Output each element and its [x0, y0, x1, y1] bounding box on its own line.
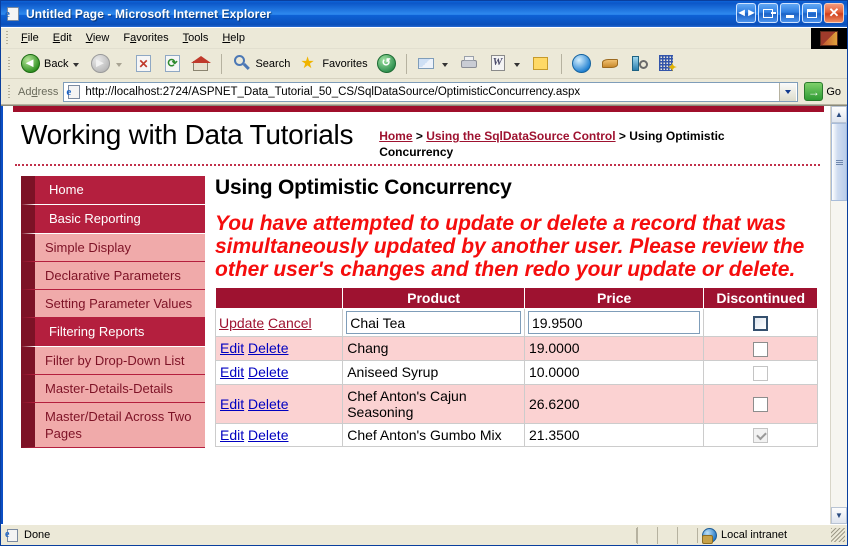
- address-input[interactable]: e http://localhost:2724/ASPNET_Data_Tuto…: [63, 82, 798, 102]
- history-icon: ↺: [376, 53, 397, 74]
- favorites-label: Favorites: [322, 58, 367, 70]
- status-cell-2: [657, 527, 677, 544]
- discontinued-checkbox: [753, 366, 768, 381]
- mail-dropdown-icon[interactable]: [442, 63, 448, 67]
- row-product-cell: [343, 309, 525, 337]
- main-content: Using Optimistic Concurrency You have at…: [205, 176, 830, 448]
- address-url-text: http://localhost:2724/ASPNET_Data_Tutori…: [85, 86, 779, 98]
- row-price-cell: 21.3500: [524, 423, 703, 447]
- row-product-cell: Chef Anton's Cajun Seasoning: [343, 384, 525, 423]
- row-commands-cell: Edit Delete: [216, 384, 343, 423]
- favorites-star-icon: ★: [298, 53, 319, 74]
- minimize-button[interactable]: [780, 3, 800, 23]
- page-header: Working with Data Tutorials Home > Using…: [3, 112, 830, 160]
- page-title: Using Optimistic Concurrency: [215, 176, 818, 200]
- close-icon: ✕: [829, 6, 840, 19]
- home-button[interactable]: [187, 51, 216, 76]
- status-cell-1: [637, 527, 657, 544]
- window-controls: ◄► ✕: [736, 3, 844, 23]
- address-label: Address: [16, 86, 63, 98]
- delete-link[interactable]: Delete: [248, 396, 288, 412]
- messenger-icon: [571, 53, 592, 74]
- edit-word-icon: W: [488, 53, 509, 74]
- breadcrumb-link-section[interactable]: Using the SqlDataSource Control: [426, 129, 615, 143]
- ie-page-icon: e: [5, 6, 21, 22]
- minimize-icon: [786, 15, 794, 18]
- research-icon: [600, 53, 621, 74]
- menu-bar: File Edit View Favorites Tools Help: [1, 27, 847, 49]
- status-bar: e Done Local intranet: [1, 524, 847, 545]
- row-discontinued-cell: [704, 360, 818, 384]
- row-discontinued-cell: [704, 423, 818, 447]
- row-discontinued-cell: [704, 337, 818, 361]
- favorites-button[interactable]: ★ Favorites: [294, 51, 371, 76]
- table-row: Edit Delete Chang 19.0000: [216, 337, 818, 361]
- row-product-cell: Aniseed Syrup: [343, 360, 525, 384]
- breadcrumb-link-home[interactable]: Home: [379, 129, 412, 143]
- mail-button[interactable]: [412, 51, 455, 76]
- sidebar-item-filter-by-drop-down-list[interactable]: Filter by Drop-Down List: [21, 347, 205, 375]
- maximize-button[interactable]: [802, 3, 822, 23]
- maximize-icon: [807, 9, 817, 18]
- update-link[interactable]: Update: [219, 315, 264, 331]
- forward-dropdown-icon: [116, 63, 122, 67]
- discontinued-checkbox: [753, 428, 768, 443]
- window-title: Untitled Page - Microsoft Internet Explo…: [26, 7, 271, 21]
- media-icon: [629, 53, 650, 74]
- notes-icon: [531, 53, 552, 74]
- local-intranet-icon: [702, 528, 717, 543]
- row-product-cell: Chang: [343, 337, 525, 361]
- row-commands-cell: Edit Delete: [216, 423, 343, 447]
- print-button[interactable]: [455, 51, 484, 76]
- column-header-discontinued: Discontinued: [704, 288, 818, 309]
- page-viewport: Working with Data Tutorials Home > Using…: [1, 105, 847, 524]
- edit-link[interactable]: Edit: [220, 427, 244, 443]
- breadcrumb: Home > Using the SqlDataSource Control >…: [379, 128, 749, 160]
- resize-grip[interactable]: [831, 528, 845, 542]
- row-price-cell: 19.0000: [524, 337, 703, 361]
- stop-button[interactable]: ✕: [129, 51, 158, 76]
- scrollbar-thumb[interactable]: [831, 123, 847, 201]
- menu-gripper[interactable]: [4, 30, 12, 46]
- go-label: Go: [826, 86, 841, 98]
- discontinued-checkbox[interactable]: [753, 316, 768, 331]
- sidebar-item-filtering-reports[interactable]: Filtering Reports: [21, 318, 205, 347]
- ie-brand-logo: [811, 28, 847, 49]
- title-bar: e Untitled Page - Microsoft Internet Exp…: [1, 1, 847, 27]
- browser-toolbar: ◄ Back ► ✕ ⟳: [1, 49, 847, 79]
- delete-link[interactable]: Delete: [248, 364, 288, 380]
- page-body: Home Basic Reporting Simple Display Decl…: [3, 166, 830, 448]
- status-text: Done: [24, 529, 50, 541]
- sidebar-item-master-details-details[interactable]: Master-Details-Details: [21, 375, 205, 403]
- page-scrollbar[interactable]: ▲ ▼: [830, 106, 847, 524]
- table-row: Edit Delete Chef Anton's Cajun Seasoning…: [216, 384, 818, 423]
- media-button[interactable]: [625, 51, 654, 76]
- restore-group-button[interactable]: ◄►: [736, 3, 756, 23]
- row-product-cell: Chef Anton's Gumbo Mix: [343, 423, 525, 447]
- go-button[interactable]: → Go: [798, 82, 845, 101]
- row-price-cell: [524, 309, 703, 337]
- history-button[interactable]: ↺: [372, 51, 401, 76]
- research-button[interactable]: [596, 51, 625, 76]
- sidebar-item-home[interactable]: Home: [21, 176, 205, 205]
- column-header-commands: [216, 288, 343, 309]
- messenger-button[interactable]: [567, 51, 596, 76]
- menu-item-tools[interactable]: Tools: [176, 30, 216, 46]
- table-header-row: Product Price Discontinued: [216, 288, 818, 309]
- edit-link[interactable]: Edit: [220, 340, 244, 356]
- forward-arrow-icon: ►: [90, 53, 111, 74]
- discontinued-checkbox: [753, 397, 768, 412]
- table-row: Edit Delete Aniseed Syrup 10.0000: [216, 360, 818, 384]
- site-title: Working with Data Tutorials: [21, 118, 353, 152]
- security-zone[interactable]: Local intranet: [697, 528, 847, 543]
- table-row: Edit Delete Chef Anton's Gumbo Mix 21.35…: [216, 423, 818, 447]
- search-button[interactable]: Search: [227, 51, 294, 76]
- discontinued-checkbox: [753, 342, 768, 357]
- edit-dropdown-icon[interactable]: [514, 63, 520, 67]
- restore-window-button[interactable]: [758, 3, 778, 23]
- row-discontinued-cell: [704, 384, 818, 423]
- sidebar-item-declarative-parameters[interactable]: Declarative Parameters: [21, 262, 205, 290]
- close-button[interactable]: ✕: [824, 3, 844, 23]
- toolbox-icon: ✦: [658, 53, 679, 74]
- cancel-link[interactable]: Cancel: [268, 315, 312, 331]
- table-row: Update Cancel: [216, 309, 818, 337]
- back-label: Back: [44, 58, 68, 70]
- menu-item-favorites[interactable]: Favorites: [116, 30, 175, 46]
- search-label: Search: [255, 58, 290, 70]
- status-message: e Done: [3, 528, 637, 543]
- delete-link[interactable]: Delete: [248, 427, 288, 443]
- menu-item-edit[interactable]: Edit: [46, 30, 79, 46]
- page-favicon-icon: e: [66, 84, 82, 100]
- forward-button: ►: [86, 51, 129, 76]
- refresh-button[interactable]: ⟳: [158, 51, 187, 76]
- address-dropdown-button[interactable]: [779, 83, 796, 101]
- back-dropdown-icon[interactable]: [73, 63, 79, 67]
- price-input[interactable]: [528, 311, 700, 334]
- status-page-icon: e: [5, 528, 20, 543]
- browser-window: e Untitled Page - Microsoft Internet Exp…: [0, 0, 848, 546]
- notes-button[interactable]: [527, 51, 556, 76]
- back-button[interactable]: ◄ Back: [16, 51, 86, 76]
- row-price-cell: 10.0000: [524, 360, 703, 384]
- row-commands-cell: Update Cancel: [216, 309, 343, 337]
- address-bar: Address e http://localhost:2724/ASPNET_D…: [1, 79, 847, 105]
- back-arrow-icon: ◄: [20, 53, 41, 74]
- row-commands-cell: Edit Delete: [216, 360, 343, 384]
- edit-word-button[interactable]: W: [484, 51, 527, 76]
- menu-item-file[interactable]: File: [14, 30, 46, 46]
- sidebar-item-basic-reporting[interactable]: Basic Reporting: [21, 205, 205, 234]
- products-grid: Product Price Discontinued Update Cancel: [215, 287, 818, 447]
- left-right-arrow-icon: ◄►: [736, 8, 756, 19]
- sidebar-item-master-detail-across-two-pages[interactable]: Master/Detail Across Two Pages: [21, 403, 205, 448]
- breadcrumb-sep-2: >: [616, 129, 630, 143]
- go-arrow-icon: →: [804, 82, 823, 101]
- stop-icon: ✕: [133, 53, 154, 74]
- search-icon: [231, 53, 252, 74]
- toolbar-gripper[interactable]: [6, 56, 14, 72]
- column-header-product: Product: [343, 288, 525, 309]
- menu-item-help[interactable]: Help: [215, 30, 252, 46]
- sidebar-item-setting-parameter-values[interactable]: Setting Parameter Values: [21, 290, 205, 318]
- breadcrumb-sep-1: >: [413, 129, 427, 143]
- zone-text: Local intranet: [721, 529, 787, 541]
- edit-link[interactable]: Edit: [220, 396, 244, 412]
- scrollbar-track[interactable]: [831, 123, 847, 507]
- print-icon: [459, 53, 480, 74]
- row-discontinued-cell: [704, 309, 818, 337]
- delete-link[interactable]: Delete: [248, 340, 288, 356]
- product-name-input[interactable]: [346, 311, 521, 334]
- column-header-price: Price: [524, 288, 703, 309]
- concurrency-warning-message: You have attempted to update or delete a…: [215, 212, 818, 281]
- web-page: Working with Data Tutorials Home > Using…: [1, 106, 830, 524]
- address-gripper[interactable]: [6, 84, 14, 100]
- edit-link[interactable]: Edit: [220, 364, 244, 380]
- restore-icon: [763, 9, 773, 18]
- scroll-up-button[interactable]: ▲: [831, 106, 847, 123]
- sidebar-nav: Home Basic Reporting Simple Display Decl…: [3, 176, 205, 448]
- row-commands-cell: Edit Delete: [216, 337, 343, 361]
- scroll-down-button[interactable]: ▼: [831, 507, 847, 524]
- status-cell-3: [677, 527, 697, 544]
- mail-icon: [416, 53, 437, 74]
- home-icon: [191, 53, 212, 74]
- row-price-cell: 26.6200: [524, 384, 703, 423]
- refresh-icon: ⟳: [162, 53, 183, 74]
- menu-item-view[interactable]: View: [79, 30, 117, 46]
- toolbox-button[interactable]: ✦: [654, 51, 683, 76]
- sidebar-item-simple-display[interactable]: Simple Display: [21, 234, 205, 262]
